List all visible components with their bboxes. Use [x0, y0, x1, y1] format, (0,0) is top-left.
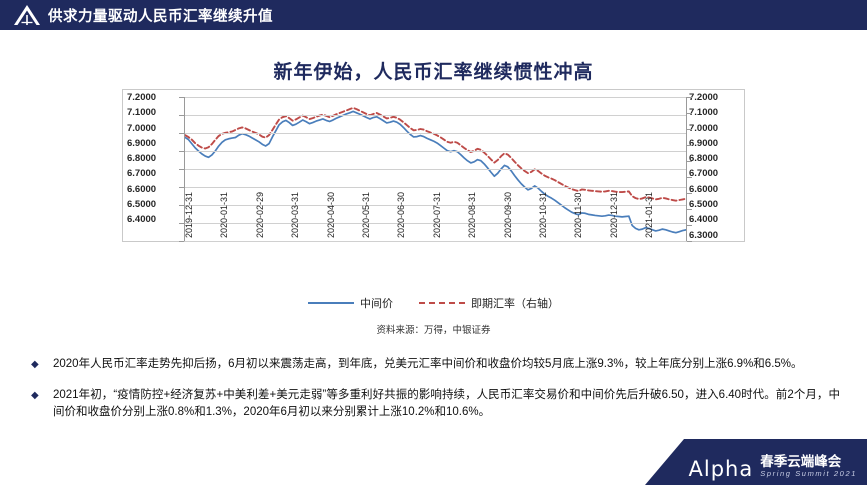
left-axis-tickmark	[179, 133, 184, 134]
left-axis-tick: 6.8000	[127, 151, 179, 166]
bullet-text: 2020年人民币汇率走势先抑后扬，6月初以来震荡走高，到年底，兑美元汇率中间价和…	[53, 356, 840, 374]
right-axis-tick: 6.8000	[689, 151, 741, 166]
left-axis-tick: 6.5000	[127, 197, 179, 212]
slide-footer: Alpha 春季云端峰会 Spring Summit 2021	[612, 439, 867, 485]
bullet-marker-icon: ◆	[28, 387, 53, 422]
right-axis-tickmark	[687, 193, 692, 194]
right-axis-tickmark	[687, 177, 692, 178]
right-axis-tickmark	[687, 161, 692, 162]
triangle-a-logo-icon	[10, 3, 44, 27]
x-axis-tick-label: 2020-03-31	[290, 192, 300, 238]
x-axis-tick-label: 2020-05-31	[361, 192, 371, 238]
chart-legend: 中间价即期汇率（右轴）	[0, 295, 867, 311]
chart-gridline	[185, 133, 686, 134]
summit-title-cn: 春季云端峰会	[760, 454, 841, 469]
legend-swatch-icon	[308, 302, 354, 304]
right-axis-tickmark	[687, 241, 692, 242]
left-axis-tickmark	[179, 115, 184, 116]
right-axis-tickmark	[687, 97, 692, 98]
x-axis-tick-label: 2021-01-31	[644, 192, 654, 238]
left-axis-tick: 6.7000	[127, 166, 179, 181]
left-axis-tickmark	[179, 169, 184, 170]
chart-gridline	[185, 169, 686, 170]
chart-gridline	[185, 115, 686, 116]
left-axis-tickmark	[179, 151, 184, 152]
right-axis-tick: 6.9000	[689, 136, 741, 151]
right-axis-tick: 6.7000	[689, 166, 741, 181]
right-axis-tick: 7.1000	[689, 105, 741, 120]
slide-header-bar: 供求力量驱动人民币汇率继续升值	[0, 0, 867, 30]
left-axis-tickmark	[179, 187, 184, 188]
chart-gridline	[185, 97, 686, 98]
right-axis-tickmark	[687, 145, 692, 146]
left-axis-tick: 6.6000	[127, 182, 179, 197]
right-axis-tick: 6.6000	[689, 182, 741, 197]
left-axis-tickmark	[179, 97, 184, 98]
bullet-item: ◆2020年人民币汇率走势先抑后扬，6月初以来震荡走高，到年底，兑美元汇率中间价…	[28, 356, 840, 374]
x-axis-tick-label: 2019-12-31	[184, 192, 194, 238]
x-axis-tick-label: 2020-10-31	[538, 192, 548, 238]
legend-label: 中间价	[360, 295, 393, 311]
legend-item-1[interactable]: 中间价	[308, 295, 393, 311]
left-axis-tick: 6.4000	[127, 212, 179, 227]
right-axis-tick: 6.5000	[689, 197, 741, 212]
chart-title: 新年伊始，人民币汇率继续惯性冲高	[0, 57, 867, 84]
legend-label: 即期汇率（右轴）	[471, 295, 559, 311]
page-title: 供求力量驱动人民币汇率继续升值	[48, 5, 273, 26]
summit-text-block: 春季云端峰会 Spring Summit 2021	[760, 454, 857, 481]
x-axis-tick-label: 2020-04-30	[326, 192, 336, 238]
x-axis-tick-label: 2020-01-31	[219, 192, 229, 238]
right-axis-tick: 7.0000	[689, 121, 741, 136]
bullet-list: ◆2020年人民币汇率走势先抑后扬，6月初以来震荡走高，到年底，兑美元汇率中间价…	[28, 356, 840, 435]
chart-right-axis: 7.20007.10007.00006.90006.80006.70006.60…	[689, 90, 741, 243]
x-axis-tick-label: 2020-11-30	[573, 193, 583, 238]
x-axis-tick-label: 2020-09-30	[503, 192, 513, 238]
right-axis-tickmark	[687, 209, 692, 210]
alpha-wordmark: Alpha	[689, 458, 754, 481]
summit-title-en: Spring Summit 2021	[760, 469, 857, 479]
right-axis-tickmark	[687, 129, 692, 130]
chart-x-axis-labels: 2019-12-312020-01-312020-02-292020-03-31…	[184, 238, 664, 290]
right-axis-tickmark	[687, 113, 692, 114]
footer-brand-block: Alpha 春季云端峰会 Spring Summit 2021	[689, 454, 857, 481]
x-axis-tick-label: 2020-07-31	[432, 192, 442, 238]
right-axis-tick: 6.4000	[689, 212, 741, 227]
right-axis-tick: 6.3000	[689, 228, 741, 243]
left-axis-tick: 7.2000	[127, 90, 179, 105]
x-axis-tick-label: 2020-02-29	[255, 192, 265, 238]
left-axis-tick: 6.9000	[127, 136, 179, 151]
legend-swatch-icon	[419, 302, 465, 304]
chart-left-axis: 7.20007.10007.00006.90006.80006.70006.60…	[127, 90, 179, 243]
right-axis-tick: 7.2000	[689, 90, 741, 105]
x-axis-tick-label: 2020-12-31	[609, 192, 619, 238]
right-axis-tickmark	[687, 225, 692, 226]
legend-item-2[interactable]: 即期汇率（右轴）	[419, 295, 559, 311]
bullet-item: ◆2021年初，“疫情防控+经济复苏+中美利差+美元走弱”等多重利好共振的影响持…	[28, 387, 840, 422]
chart-gridline	[185, 187, 686, 188]
x-axis-tick-label: 2020-08-31	[467, 192, 477, 238]
chart-gridline	[185, 151, 686, 152]
x-axis-tick-label: 2020-06-30	[396, 192, 406, 238]
left-axis-tick: 7.1000	[127, 105, 179, 120]
plot-right-border	[686, 97, 687, 241]
bullet-marker-icon: ◆	[28, 356, 53, 374]
chart-source-note: 资料来源：万得，中银证券	[0, 322, 867, 336]
bullet-text: 2021年初，“疫情防控+经济复苏+中美利差+美元走弱”等多重利好共振的影响持续…	[53, 387, 840, 422]
left-axis-tick: 7.0000	[127, 121, 179, 136]
